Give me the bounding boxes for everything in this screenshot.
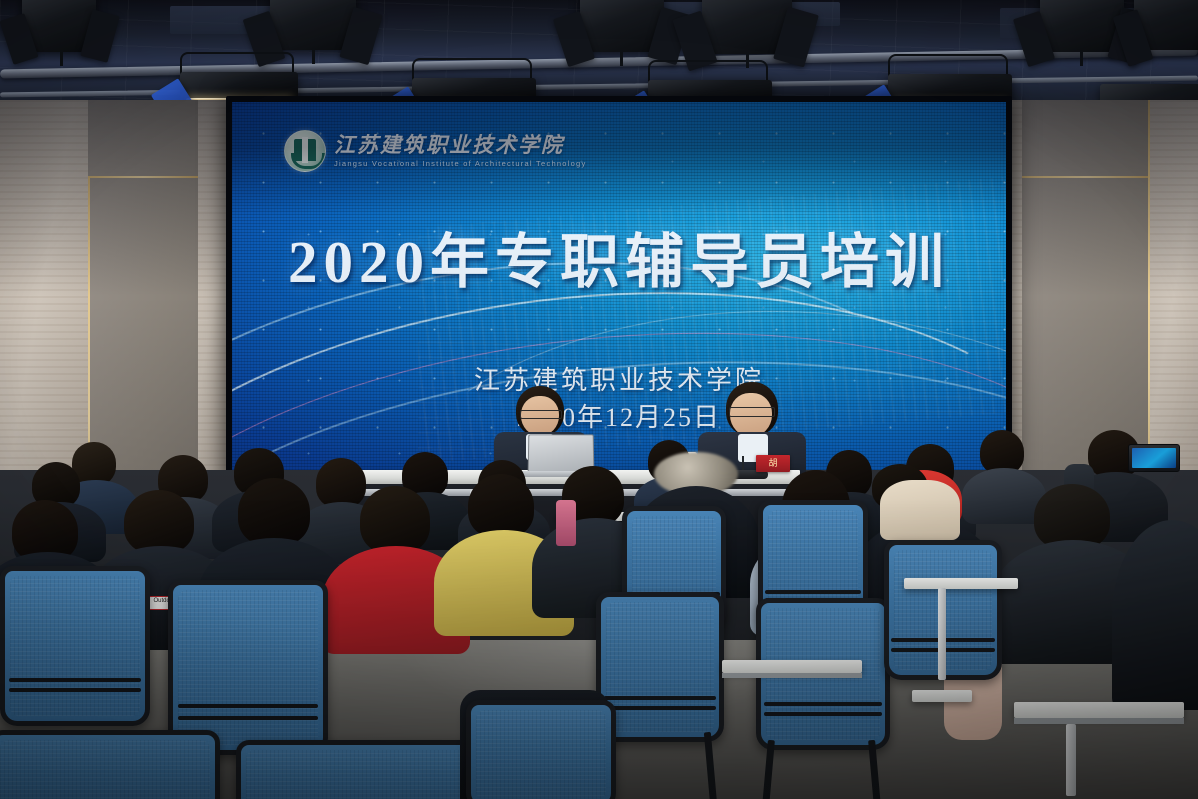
chair xyxy=(236,740,486,799)
chair xyxy=(0,566,150,726)
desk xyxy=(722,660,862,673)
desk-edge xyxy=(722,673,862,678)
desk xyxy=(1014,702,1184,718)
desk xyxy=(912,690,972,702)
desk-leg xyxy=(1066,724,1076,796)
photo-scene: 江苏建筑职业技术学院 Jiangsu Vocational Institute … xyxy=(0,0,1198,799)
led-screen: 江苏建筑职业技术学院 Jiangsu Vocational Institute … xyxy=(232,102,1006,482)
desk xyxy=(904,578,1018,589)
stage-fresnel-light xyxy=(1120,0,1198,80)
audience-member xyxy=(880,456,950,526)
chair xyxy=(168,580,328,755)
pink-thermos xyxy=(556,500,576,546)
screen-light-shadow xyxy=(232,102,1006,482)
camera xyxy=(1128,444,1180,472)
audience-member xyxy=(1112,520,1198,700)
chair xyxy=(466,700,616,799)
chair xyxy=(0,730,220,799)
stage-fresnel-light xyxy=(6,0,118,80)
desk-edge xyxy=(1014,718,1184,724)
desk-leg xyxy=(938,588,946,680)
camera-screen xyxy=(1132,448,1176,468)
